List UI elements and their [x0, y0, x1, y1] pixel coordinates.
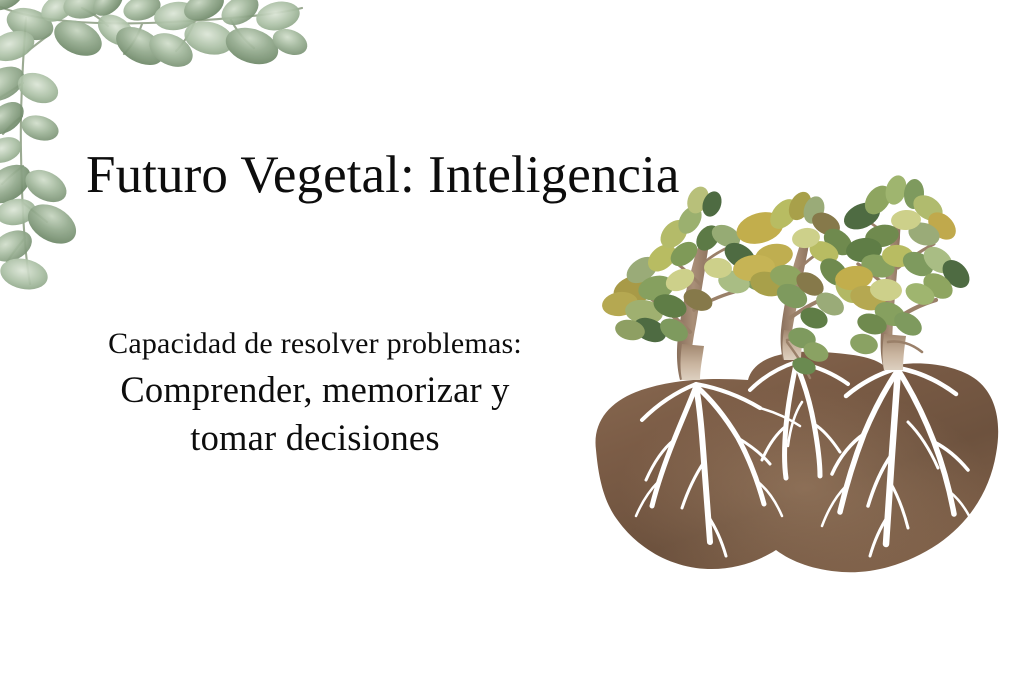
eucalyptus-stems	[0, 4, 302, 284]
root-system	[636, 362, 974, 556]
body-line-2: Comprender, memorizar y	[20, 366, 610, 414]
tree-trunks	[646, 218, 936, 380]
slide-title: Futuro Vegetal: Inteligencia	[86, 148, 680, 204]
slide-canvas: Futuro Vegetal: Inteligencia Capacidad d…	[0, 0, 1024, 682]
plant-roots-illustration	[578, 172, 1008, 622]
slide-body-text: Capacidad de resolver problemas: Compren…	[20, 322, 610, 462]
body-line-3: tomar decisiones	[20, 414, 610, 462]
body-line-1: Capacidad de resolver problemas:	[20, 322, 610, 366]
soil-mound	[595, 352, 998, 573]
